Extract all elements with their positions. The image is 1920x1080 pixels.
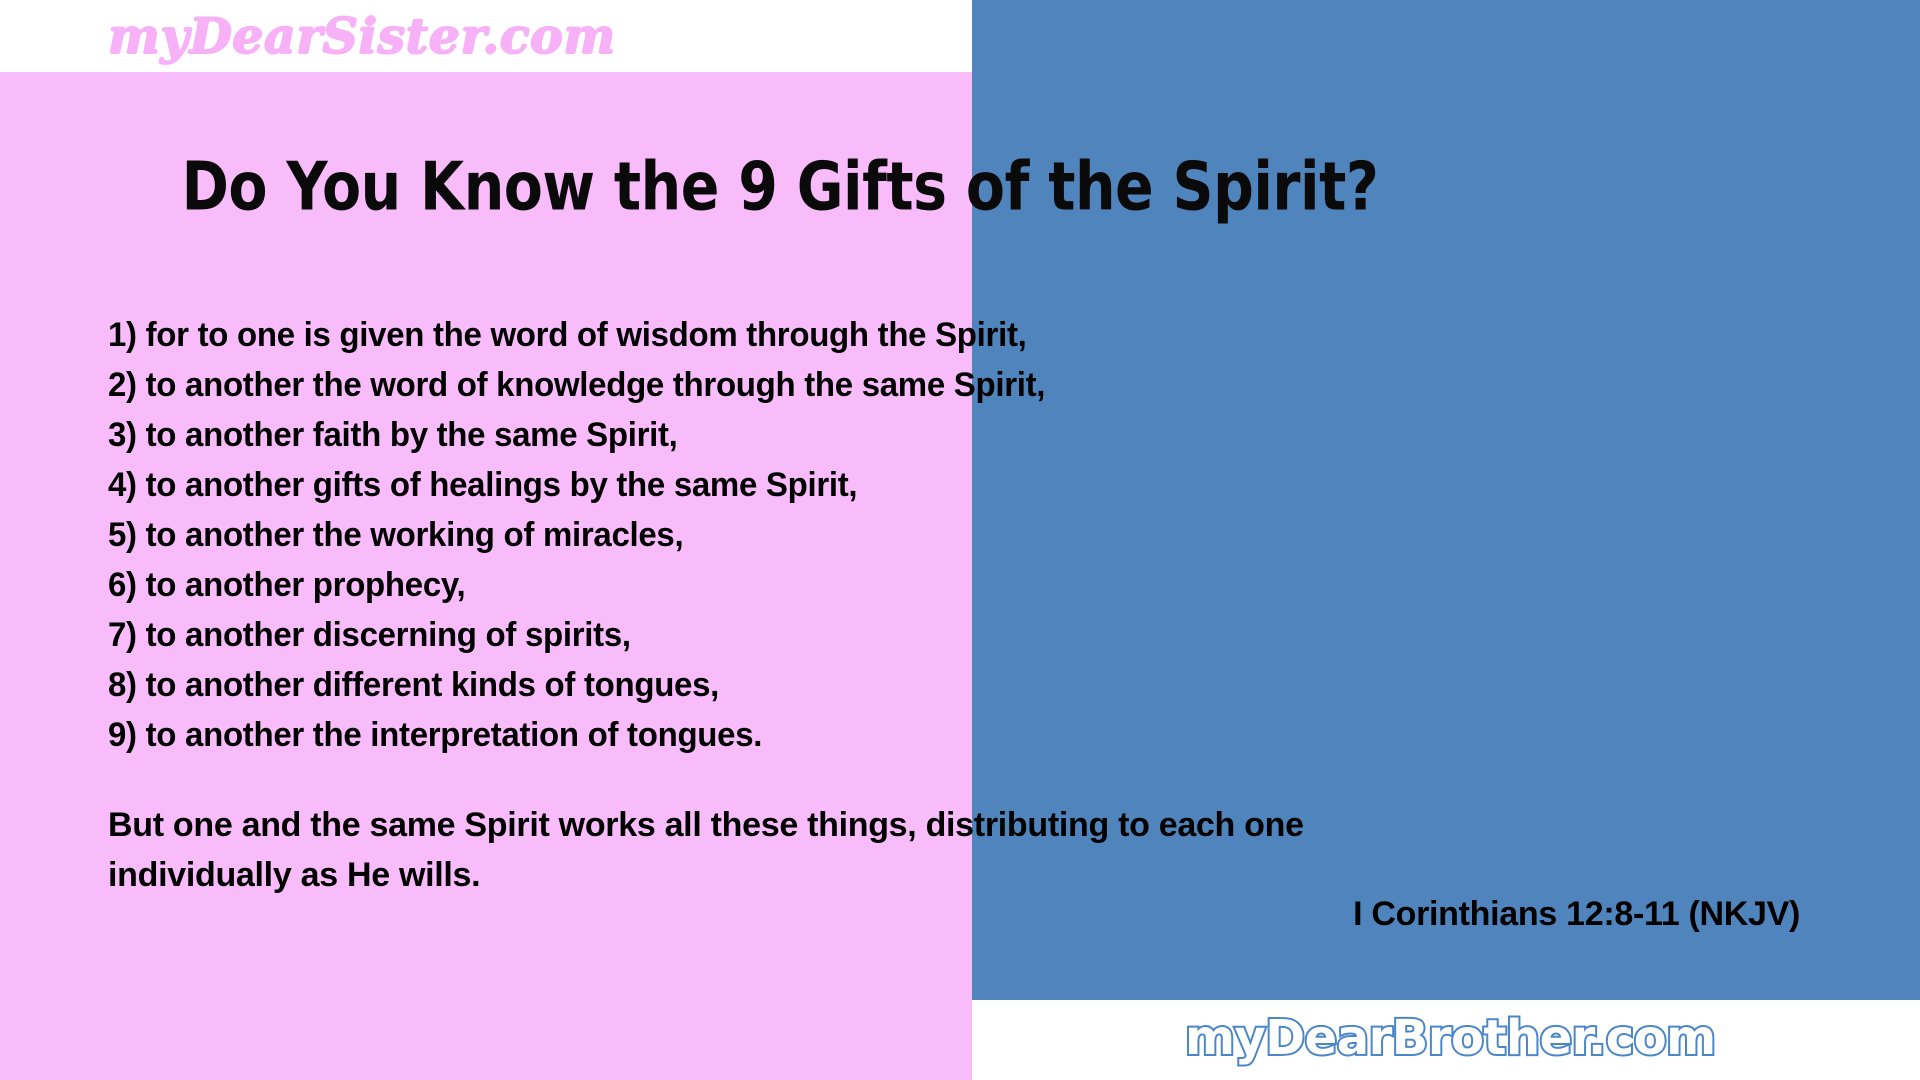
closing-line-1: But one and the same Spirit works all th… bbox=[108, 800, 1708, 850]
mydearsister-logo[interactable]: myDearSister.com bbox=[108, 6, 616, 66]
list-item: 3) to another faith by the same Spirit, bbox=[108, 410, 1757, 460]
list-item: 7) to another discerning of spirits, bbox=[108, 610, 1757, 660]
list-item: 5) to another the working of miracles, bbox=[108, 510, 1757, 560]
gifts-list: 1) for to one is given the word of wisdo… bbox=[108, 310, 1808, 760]
page-title: Do You Know the 9 Gifts of the Spirit? bbox=[0, 148, 1560, 226]
mydearbrother-logo[interactable]: myDearBrother.com bbox=[1185, 1005, 1716, 1071]
scripture-citation: I Corinthians 12:8-11 (NKJV) bbox=[0, 895, 1800, 934]
list-item: 1) for to one is given the word of wisdo… bbox=[108, 310, 1757, 360]
list-item: 8) to another different kinds of tongues… bbox=[108, 660, 1757, 710]
closing-line-2: individually as He wills. bbox=[108, 850, 1708, 900]
closing-paragraph: But one and the same Spirit works all th… bbox=[108, 800, 1708, 900]
list-item: 9) to another the interpretation of tong… bbox=[108, 710, 1757, 760]
list-item: 4) to another gifts of healings by the s… bbox=[108, 460, 1757, 510]
list-item: 6) to another prophecy, bbox=[108, 560, 1757, 610]
poster-canvas: myDearSister.com Do You Know the 9 Gifts… bbox=[0, 0, 1920, 1080]
list-item: 2) to another the word of knowledge thro… bbox=[108, 360, 1757, 410]
